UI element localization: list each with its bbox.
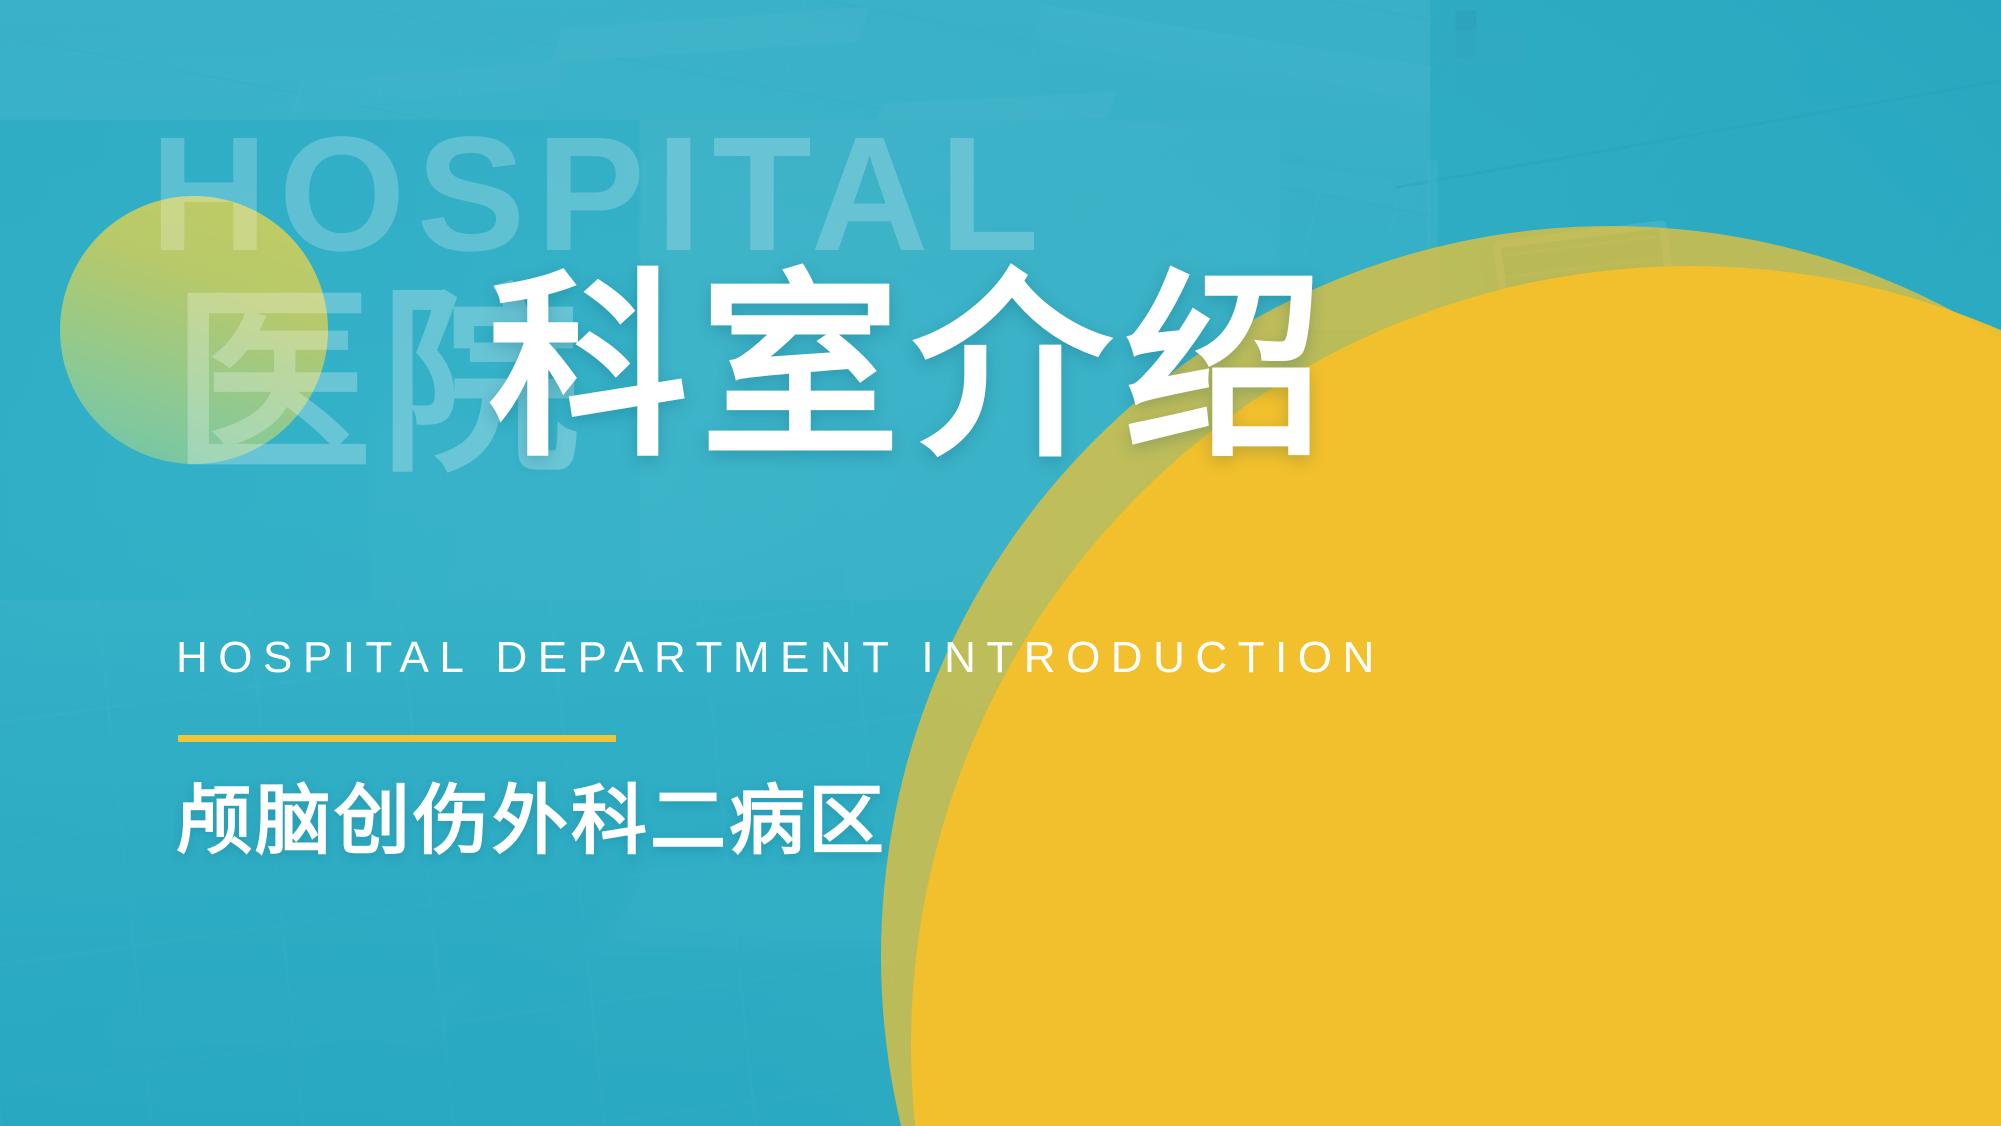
page-subtitle-english: HOSPITAL DEPARTMENT INTRODUCTION: [176, 636, 1385, 680]
page-title: 科室介绍: [488, 268, 1336, 468]
title-divider: [178, 735, 616, 742]
slide-canvas: HOSPITAL 医院 科室介绍 HOSPITAL DEPARTMENT INT…: [0, 0, 2001, 1126]
department-name: 颅脑创伤外科二病区: [176, 776, 887, 866]
